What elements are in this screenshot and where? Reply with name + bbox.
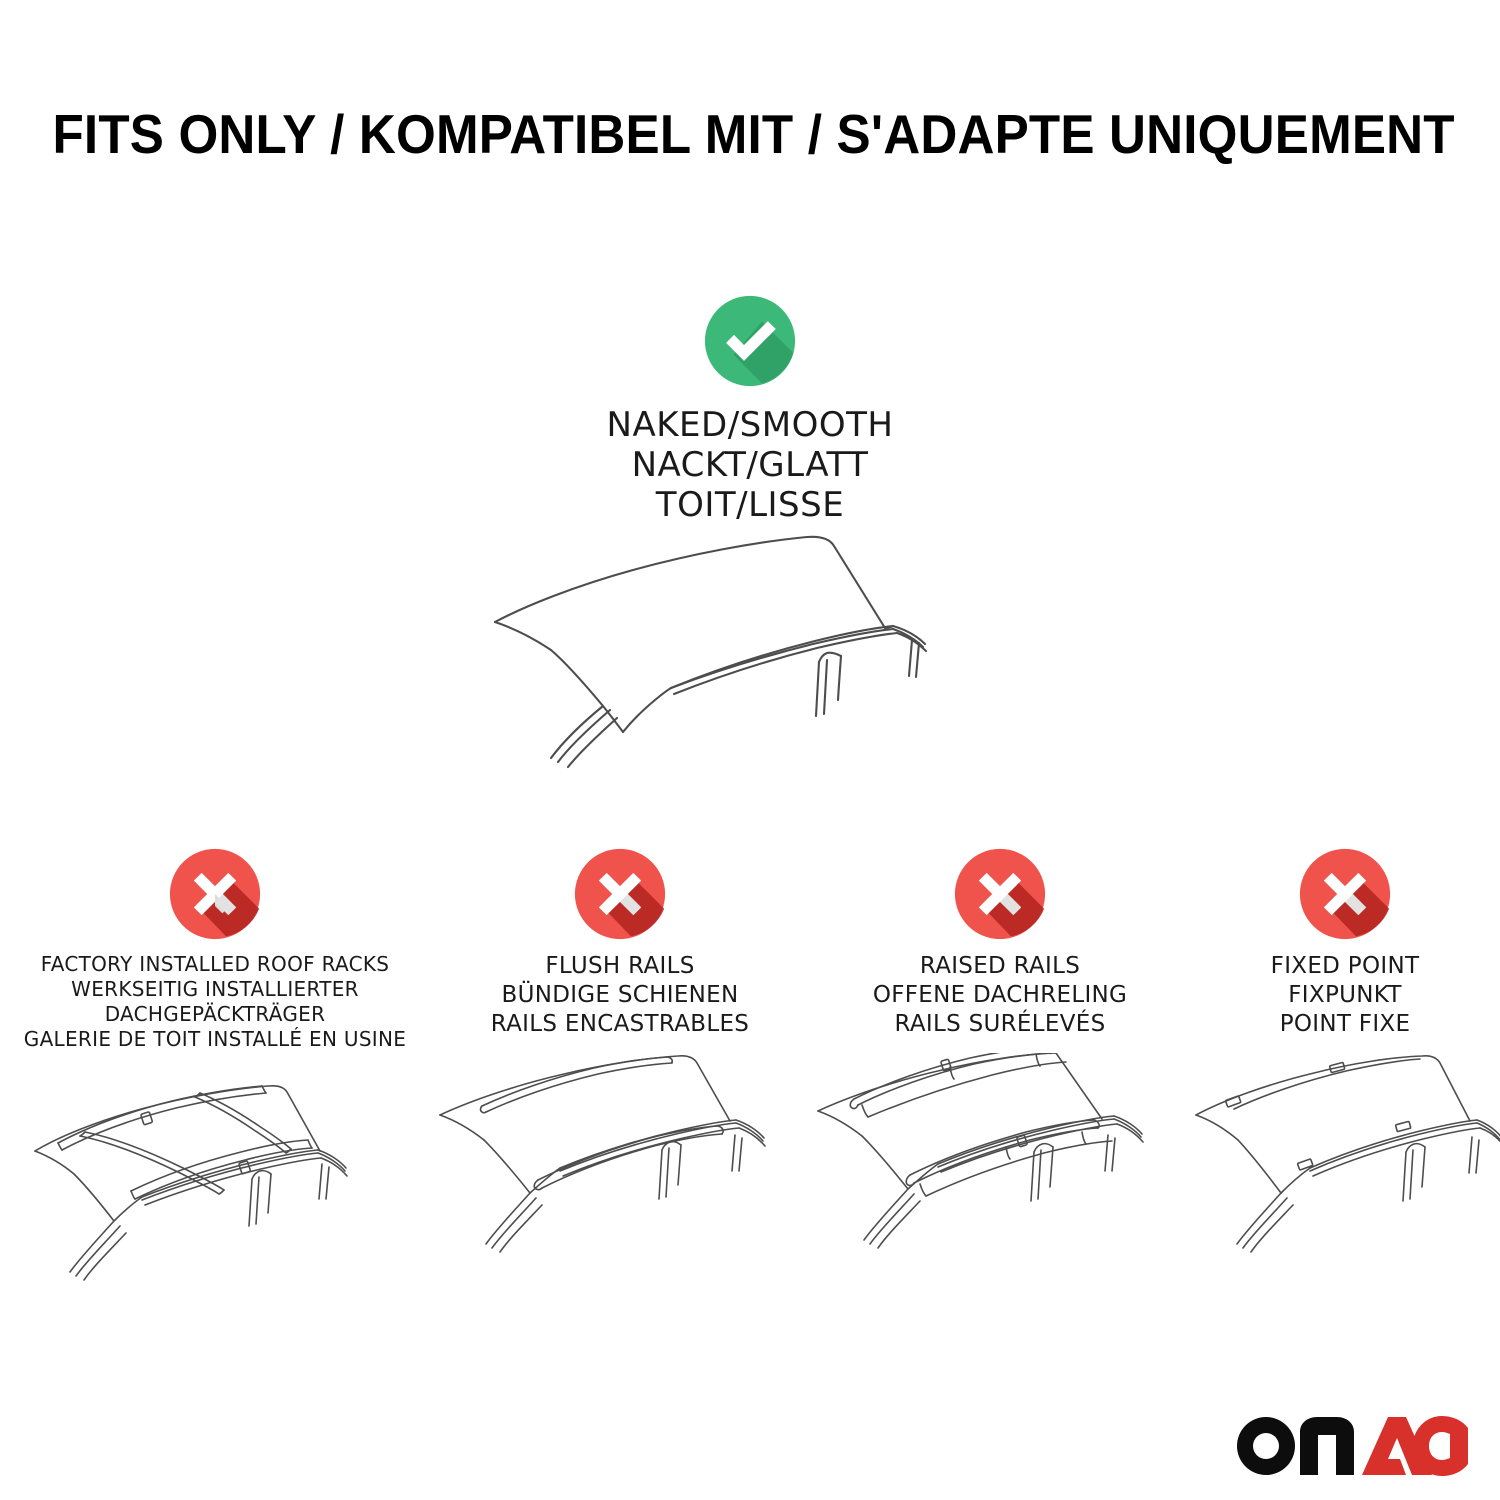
label-line-1: RAISED RAILS — [810, 952, 1190, 981]
incompatible-roof-types: FACTORY INSTALLED ROOF RACKS WERKSEITIG … — [0, 848, 1500, 1296]
compatible-roof-type: NAKED/SMOOTH NACKT/GLATT TOIT/LISSE — [450, 295, 1050, 525]
compatible-label-line-2: NACKT/GLATT — [450, 445, 1050, 485]
incompatible-item-factory-installed-roof-racks: FACTORY INSTALLED ROOF RACKS WERKSEITIG … — [0, 848, 430, 1296]
label-line-2: BÜNDIGE SCHIENEN — [430, 981, 810, 1010]
x-circle-icon — [574, 848, 666, 940]
compatible-label-line-1: NAKED/SMOOTH — [450, 405, 1050, 445]
x-circle-icon — [1299, 848, 1391, 940]
car-roof-factory-installed-roof-racks-illustration — [0, 1066, 430, 1296]
page-title: FITS ONLY / KOMPATIBEL MIT / S'ADAPTE UN… — [53, 102, 1448, 166]
incompatible-item-raised-rails: RAISED RAILS OFFENE DACHRELING RAILS SUR… — [810, 848, 1190, 1296]
compatible-label: NAKED/SMOOTH NACKT/GLATT TOIT/LISSE — [450, 405, 1050, 525]
incompatible-label-fixed-point: FIXED POINT FIXPUNKT POINT FIXE — [1190, 952, 1500, 1039]
x-circle-icon — [954, 848, 1046, 940]
label-line-2: FIXPUNKT — [1190, 981, 1500, 1010]
incompatible-item-flush-rails: FLUSH RAILS BÜNDIGE SCHIENEN RAILS ENCAS… — [430, 848, 810, 1296]
omac-logo: OMAC — [1236, 1408, 1468, 1480]
label-line-2: WERKSEITIG INSTALLIERTER — [0, 977, 430, 1002]
car-roof-naked-smooth-illustration — [455, 510, 1055, 810]
label-line-3: RAILS ENCASTRABLES — [430, 1010, 810, 1039]
label-line-3: RAILS SURÉLEVÉS — [810, 1010, 1190, 1039]
incompatible-label-flush-rails: FLUSH RAILS BÜNDIGE SCHIENEN RAILS ENCAS… — [430, 952, 810, 1039]
incompatible-label-factory-installed-roof-racks: FACTORY INSTALLED ROOF RACKS WERKSEITIG … — [0, 952, 430, 1052]
incompatible-item-fixed-point: FIXED POINT FIXPUNKT POINT FIXE — [1190, 848, 1500, 1296]
check-circle-icon — [704, 295, 796, 387]
label-line-3: POINT FIXE — [1190, 1010, 1500, 1039]
label-line-3: DACHGEPÄCKTRÄGER — [0, 1002, 430, 1027]
car-roof-flush-rails-illustration — [430, 1053, 810, 1283]
car-roof-fixed-point-illustration — [1190, 1053, 1500, 1283]
incompatible-label-raised-rails: RAISED RAILS OFFENE DACHRELING RAILS SUR… — [810, 952, 1190, 1039]
label-line-1: FACTORY INSTALLED ROOF RACKS — [0, 952, 430, 977]
label-line-1: FIXED POINT — [1190, 952, 1500, 981]
car-roof-raised-rails-illustration — [810, 1053, 1190, 1283]
label-line-2: OFFENE DACHRELING — [810, 981, 1190, 1010]
x-circle-icon — [169, 848, 261, 940]
label-line-4: GALERIE DE TOIT INSTALLÉ EN USINE — [0, 1027, 430, 1052]
label-line-1: FLUSH RAILS — [430, 952, 810, 981]
